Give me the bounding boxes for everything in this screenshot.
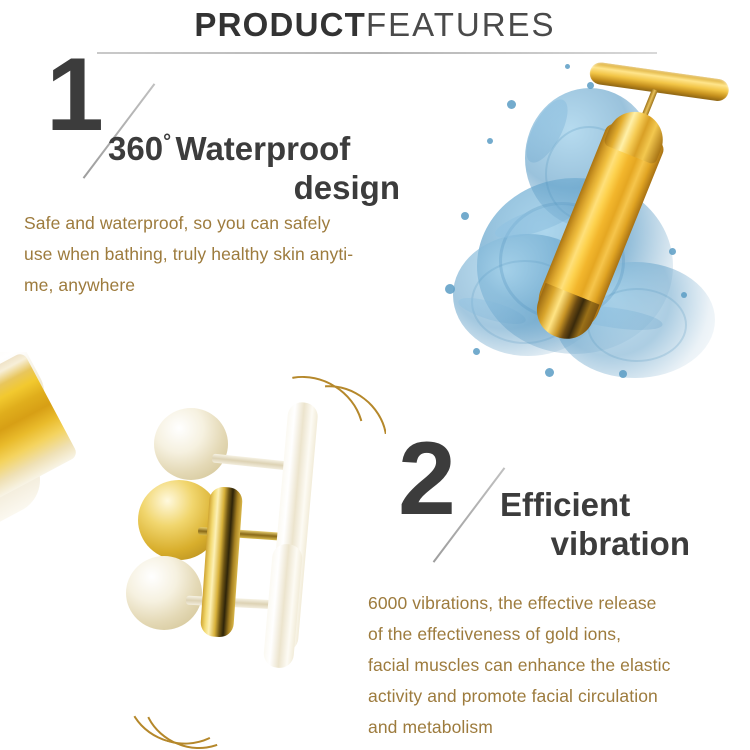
feature-2-heading-line2: vibration [500, 525, 750, 562]
feature-1-body-line-2: use when bathing, truly healthy skin any… [24, 239, 434, 270]
massager-body [0, 352, 79, 548]
feature-2-heading: Efficient vibration [500, 486, 750, 563]
feature-1-eyebrow-value: 360 [108, 130, 163, 167]
page-title-bold: PRODUCT [194, 6, 366, 43]
feature-2-body: 6000 vibrations, the effective release o… [368, 588, 750, 743]
water-droplet [473, 348, 480, 355]
feature-2-heading-line1: Efficient [500, 486, 750, 523]
water-droplet [445, 284, 455, 294]
feature-2-body-line-1: 6000 vibrations, the effective release [368, 588, 750, 619]
water-droplet [487, 138, 493, 144]
water-droplet [507, 100, 516, 109]
page-title: PRODUCTFEATURES [0, 6, 750, 44]
water-droplet [681, 292, 687, 298]
product-features-page: PRODUCTFEATURES 1 360° Waterproof design… [0, 0, 750, 750]
feature-2-body-line-2: of the effectiveness of gold ions, [368, 619, 750, 650]
feature-1-body: Safe and waterproof, so you can safely u… [24, 208, 434, 301]
t-bar-vertical-ghost-2 [263, 543, 304, 669]
product-image-waterproof [437, 52, 750, 392]
feature-1-heading-line1: Waterproof [176, 130, 351, 167]
feature-2-number: 2 [398, 432, 454, 528]
feature-1-eyebrow: 360° [108, 130, 171, 167]
degree-symbol-icon: ° [163, 131, 171, 153]
water-droplet [619, 370, 627, 378]
feature-1-body-line-3: me, anywhere [24, 270, 434, 301]
water-droplet [587, 82, 594, 89]
water-droplet [565, 64, 570, 69]
feature-1-number: 1 [46, 48, 102, 144]
feature-1-heading: 360° Waterproof design [108, 130, 418, 207]
feature-1-body-line-1: Safe and waterproof, so you can safely [24, 208, 434, 239]
feature-2-body-line-4: activity and promote facial circulation [368, 681, 750, 712]
water-droplet [461, 212, 469, 220]
roller-head [154, 408, 228, 480]
feature-2-body-line-3: facial muscles can enhance the elastic [368, 650, 750, 681]
feature-1-heading-line2: design [108, 169, 418, 206]
product-image-vibration [0, 352, 386, 750]
gold-massager-bar-macro [0, 352, 79, 578]
water-droplet [545, 368, 554, 377]
page-title-light: FEATURES [366, 6, 556, 43]
water-droplet [669, 248, 676, 255]
feature-2-body-line-5: and metabolism [368, 712, 750, 743]
